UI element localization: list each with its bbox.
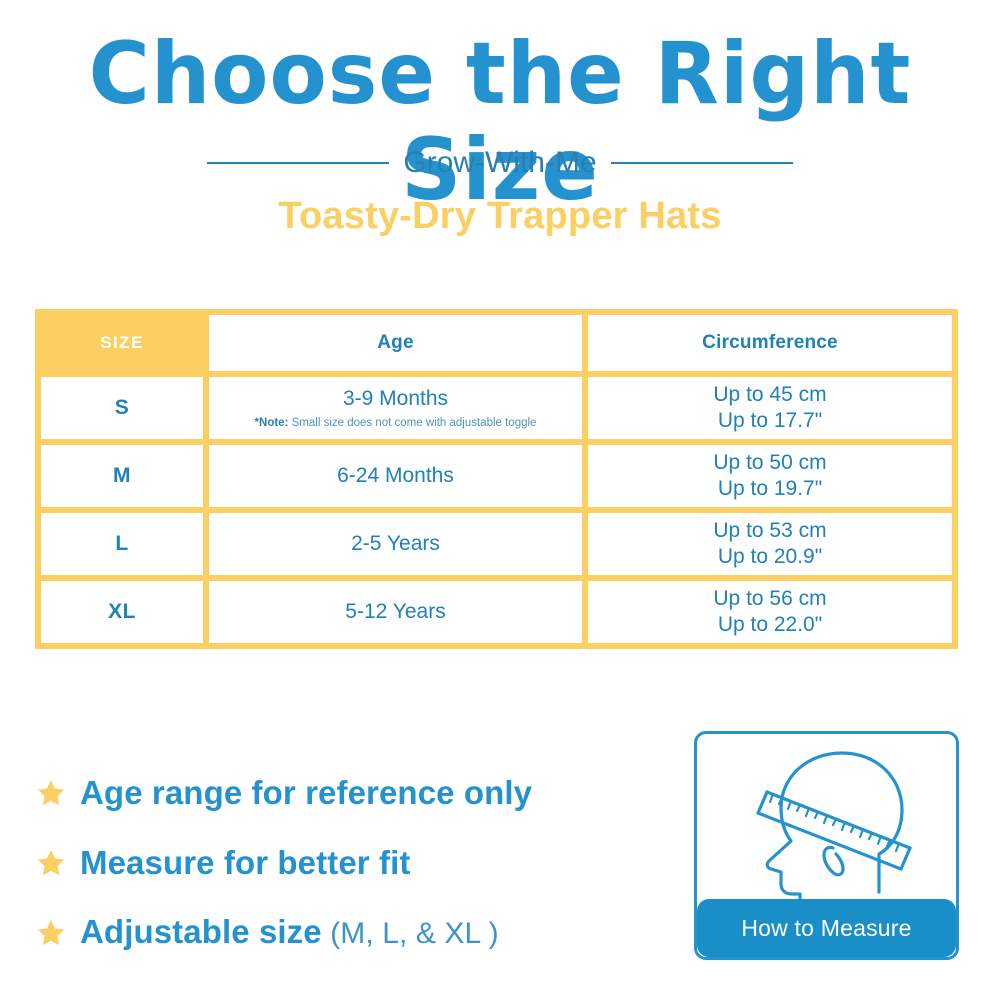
circumference-inches: Up to 17.7" [718, 408, 822, 434]
star-icon [36, 778, 66, 808]
list-item: Measure for better fit [36, 828, 676, 898]
product-name: Toasty-Dry Trapper Hats [0, 192, 1000, 240]
circumference-cm: Up to 53 cm [713, 518, 826, 544]
circumference-inches: Up to 22.0" [718, 612, 822, 638]
column-header-age: Age [209, 315, 582, 371]
cell-size: M [41, 445, 203, 507]
age-range: 5-12 Years [345, 599, 445, 625]
age-range: 3-9 Months [343, 386, 448, 412]
list-item-label: Adjustable size (M, L, & XL ) [80, 913, 499, 953]
star-icon [36, 848, 66, 878]
head-with-measuring-tape-icon [697, 734, 956, 912]
cell-age: 6-24 Months [209, 445, 582, 507]
cell-age: 5-12 Years [209, 581, 582, 643]
table-row: M 6-24 Months Up to 50 cm Up to 19.7" [41, 445, 952, 507]
cell-circumference: Up to 50 cm Up to 19.7" [588, 445, 952, 507]
table-row: S 3-9 Months *Note: Small size does not … [41, 377, 952, 439]
cell-age: 3-9 Months *Note: Small size does not co… [209, 377, 582, 439]
size-note-text: Small size does not come with adjustable… [288, 417, 536, 429]
circumference-inches: Up to 19.7" [718, 476, 822, 502]
cell-age: 2-5 Years [209, 513, 582, 575]
list-item-label: Measure for better fit [80, 844, 410, 882]
cell-circumference: Up to 56 cm Up to 22.0" [588, 581, 952, 643]
circumference-cm: Up to 50 cm [713, 450, 826, 476]
column-header-size: SIZE [41, 315, 203, 371]
subtitle: Grow-With-Me [403, 146, 596, 180]
list-item: Adjustable size (M, L, & XL ) [36, 898, 676, 968]
list-item-text: Adjustable size [80, 913, 322, 950]
divider-rule-right [611, 162, 793, 164]
page-title: Choose the Right Size [15, 26, 985, 218]
cell-size: L [41, 513, 203, 575]
circumference-inches: Up to 20.9" [718, 544, 822, 570]
cell-circumference: Up to 45 cm Up to 17.7" [588, 377, 952, 439]
table-header-row: SIZE Age Circumference [41, 315, 952, 371]
how-to-measure-button[interactable]: How to Measure [697, 899, 956, 957]
size-note: *Note: Small size does not come with adj… [255, 415, 537, 431]
table-row: XL 5-12 Years Up to 56 cm Up to 22.0" [41, 581, 952, 643]
divider-rule-left [207, 162, 389, 164]
list-item-label: Age range for reference only [80, 774, 532, 812]
subtitle-row: Grow-With-Me [0, 146, 1000, 180]
age-range: 2-5 Years [351, 531, 440, 557]
star-icon [36, 918, 66, 948]
circumference-cm: Up to 45 cm [713, 382, 826, 408]
list-item-text: Measure for better fit [80, 844, 410, 881]
how-to-measure-label: How to Measure [741, 915, 911, 942]
table-row: L 2-5 Years Up to 53 cm Up to 20.9" [41, 513, 952, 575]
size-table: SIZE Age Circumference S 3-9 Months *Not… [35, 309, 958, 649]
cell-circumference: Up to 53 cm Up to 20.9" [588, 513, 952, 575]
size-note-label: *Note: [255, 417, 289, 429]
column-header-circumference: Circumference [588, 315, 952, 371]
list-item-text: Age range for reference only [80, 774, 532, 811]
circumference-cm: Up to 56 cm [713, 586, 826, 612]
cell-size: XL [41, 581, 203, 643]
feature-list: Age range for reference only Measure for… [36, 758, 676, 968]
how-to-measure-card[interactable]: How to Measure [694, 731, 959, 960]
list-item: Age range for reference only [36, 758, 676, 828]
cell-size: S [41, 377, 203, 439]
age-range: 6-24 Months [337, 463, 454, 489]
list-item-suffix: (M, L, & XL ) [322, 917, 499, 950]
